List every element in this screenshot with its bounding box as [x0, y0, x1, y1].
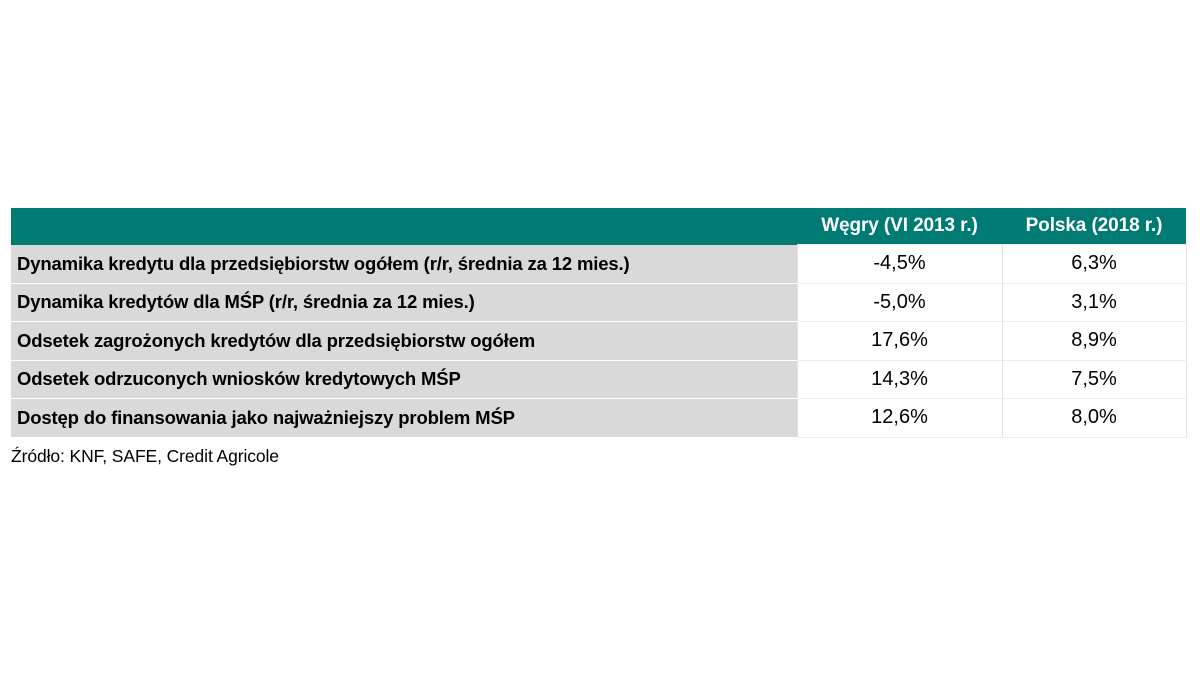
row-label: Dynamika kredytu dla przedsiębiorstw ogó…: [11, 245, 797, 284]
row-value-hungary: 12,6%: [797, 399, 1002, 438]
row-value-poland: 3,1%: [1002, 283, 1186, 322]
row-value-hungary: 17,6%: [797, 322, 1002, 361]
row-value-poland: 8,0%: [1002, 399, 1186, 438]
header-cell-indicator: [11, 208, 797, 245]
row-label: Odsetek odrzuconych wniosków kredytowych…: [11, 360, 797, 399]
row-value-poland: 6,3%: [1002, 245, 1186, 284]
table-row: Odsetek zagrożonych kredytów dla przedsi…: [11, 322, 1186, 361]
table-body: Dynamika kredytu dla przedsiębiorstw ogó…: [11, 245, 1186, 438]
table-header: Węgry (VI 2013 r.) Polska (2018 r.): [11, 208, 1186, 245]
comparison-table-container: Węgry (VI 2013 r.) Polska (2018 r.) Dyna…: [11, 208, 1186, 438]
header-cell-poland: Polska (2018 r.): [1002, 208, 1186, 245]
row-value-hungary: -4,5%: [797, 245, 1002, 284]
source-note: Źródło: KNF, SAFE, Credit Agricole: [11, 446, 279, 467]
row-label: Dostęp do finansowania jako najważniejsz…: [11, 399, 797, 438]
row-value-hungary: -5,0%: [797, 283, 1002, 322]
header-cell-hungary: Węgry (VI 2013 r.): [797, 208, 1002, 245]
row-value-hungary: 14,3%: [797, 360, 1002, 399]
table-row: Dostęp do finansowania jako najważniejsz…: [11, 399, 1186, 438]
table-figure: Węgry (VI 2013 r.) Polska (2018 r.) Dyna…: [0, 0, 1200, 675]
row-value-poland: 8,9%: [1002, 322, 1186, 361]
row-label: Odsetek zagrożonych kredytów dla przedsi…: [11, 322, 797, 361]
table-header-row: Węgry (VI 2013 r.) Polska (2018 r.): [11, 208, 1186, 245]
comparison-table: Węgry (VI 2013 r.) Polska (2018 r.) Dyna…: [11, 208, 1187, 438]
table-row: Dynamika kredytu dla przedsiębiorstw ogó…: [11, 245, 1186, 284]
row-label: Dynamika kredytów dla MŚP (r/r, średnia …: [11, 283, 797, 322]
row-value-poland: 7,5%: [1002, 360, 1186, 399]
table-row: Odsetek odrzuconych wniosków kredytowych…: [11, 360, 1186, 399]
table-row: Dynamika kredytów dla MŚP (r/r, średnia …: [11, 283, 1186, 322]
